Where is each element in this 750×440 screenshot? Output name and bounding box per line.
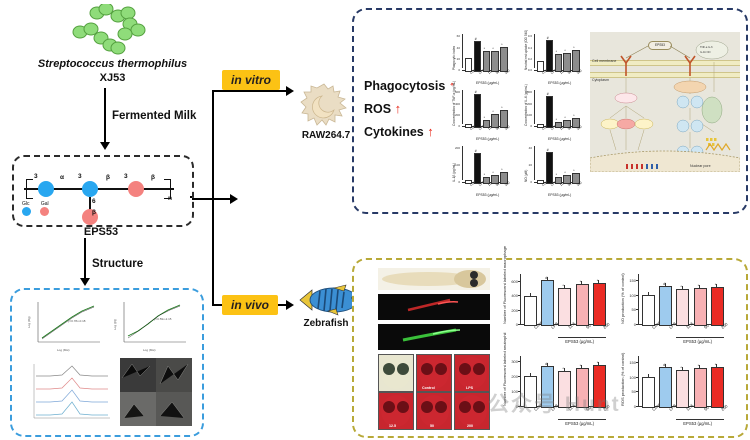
y-tick: 100 <box>624 293 636 298</box>
significance-marker: * <box>484 173 485 177</box>
y-tick: 0 <box>624 322 636 327</box>
significance-marker: * <box>501 43 502 47</box>
nuclear-pore-label: Nuclear pore <box>690 164 711 168</box>
bar-LPS <box>546 40 553 72</box>
arrow-invitro-head <box>286 86 294 96</box>
in-vitro-chart-5: IL-1β (pg/mL)0100200Control#LPS*12.5*50*… <box>448 142 510 194</box>
y-tick: 150 <box>624 278 636 283</box>
bar-LPS <box>474 41 481 72</box>
arrow-invivo-vertical <box>212 198 214 306</box>
bar-200 <box>593 283 606 326</box>
significance-marker: * <box>556 50 557 54</box>
watermark: 公众号 Hunt <box>488 388 688 416</box>
plot1-annotation: y=0.78x-0.18 <box>68 319 86 323</box>
mark-houwink-plot-2: y=0.59x-2.15 Log (Mw) Log ([n]) <box>110 298 190 353</box>
bar-200 <box>711 367 724 408</box>
y-tick: 0 <box>520 180 532 184</box>
head-image-control: Control <box>416 354 452 392</box>
eps53-label: EPS53 <box>12 226 190 238</box>
bar-LPS <box>659 286 672 326</box>
in-vitro-chart-2: Neutral red uptake (OD 540)0.00.20.40.6C… <box>520 30 582 82</box>
significance-marker: * <box>492 110 493 114</box>
svg-text:Log (Mw): Log (Mw) <box>57 348 70 352</box>
head-label-200: 200 <box>467 424 473 428</box>
effect-ros-label: ROS <box>364 102 391 116</box>
mark-houwink-plot-1: y=0.78x-0.18 Log (Mw) Log (Rg) <box>24 298 104 353</box>
x-tick-label: 50 <box>585 323 592 330</box>
structure-characterization-panel: y=0.78x-0.18 Log (Mw) Log (Rg) y=0.59x-2… <box>10 288 204 437</box>
significance-marker: * <box>484 116 485 120</box>
spectra-plot <box>20 358 116 428</box>
significance-marker: * <box>573 114 574 118</box>
significance-marker: * <box>564 49 565 53</box>
head-label-lps: LPS <box>466 386 473 390</box>
y-tick: 0.2 <box>520 57 532 61</box>
branch-link: β <box>92 209 96 216</box>
arrow-invitro-line <box>212 90 288 92</box>
y-tick: 150 <box>624 360 636 365</box>
y-tick: 200 <box>506 308 518 313</box>
head-image-lps: LPS <box>454 354 490 392</box>
significance-marker: # <box>547 36 549 40</box>
y-tick: 0 <box>506 322 518 327</box>
significance-marker: * <box>573 169 574 173</box>
arrow-split-head <box>230 194 238 204</box>
svg-text:IL-1b NO: IL-1b NO <box>700 50 711 54</box>
y-tick: 0 <box>448 124 460 128</box>
y-tick: 100 <box>448 163 460 167</box>
bar-LPS <box>474 153 481 184</box>
effect-cytokines-arrow: ↑ <box>427 124 434 139</box>
arrow-fermentation-line <box>104 88 106 144</box>
sugar-gal-1 <box>128 181 144 197</box>
x-tick-label: 200 <box>504 69 511 75</box>
significance-marker: * <box>564 171 565 175</box>
x-axis-group-label: EPS53 (μg/mL) <box>565 339 594 344</box>
structure-legend: Glc Gal <box>22 201 49 207</box>
y-tick: 0.6 <box>520 34 532 38</box>
in-vitro-chart-1: Phagocytic index0204060Control#LPS*12.5*… <box>448 30 510 82</box>
svg-text:TNF-a IL-6: TNF-a IL-6 <box>700 45 713 49</box>
head-image-control-bf <box>378 354 414 392</box>
significance-marker: # <box>475 90 477 94</box>
bar-50 <box>694 368 707 408</box>
y-tick: 400 <box>448 102 460 106</box>
significance-marker: * <box>501 168 502 172</box>
in-vivo-badge: in vivo <box>222 295 278 315</box>
plot2-annotation: y=0.59x-2.15 <box>154 317 172 321</box>
svg-text:Log ([n]): Log ([n]) <box>113 319 117 330</box>
zebrafish-icon <box>294 283 360 317</box>
x-tick-label: 200 <box>504 181 511 187</box>
branch-position: 6 <box>92 198 96 205</box>
macrophage-count-chart: Number of Fluorescent labeled macrophage… <box>496 266 614 348</box>
significance-marker: * <box>556 173 557 177</box>
strain-name: XJ53 <box>10 72 215 84</box>
structure-label: Structure <box>92 258 143 270</box>
y-tick: 200 <box>448 113 460 117</box>
signaling-pathway-diagram: Cell membrane Cytoplasm EPS53 <box>590 32 740 172</box>
arrow-invivo-head <box>286 300 294 310</box>
y-tick: 100 <box>520 113 532 117</box>
y-tick: 0 <box>520 124 532 128</box>
x-axis-group-label: EPS53 (μg/mL) <box>683 421 712 426</box>
y-tick: 50 <box>624 307 636 312</box>
significance-marker: * <box>556 118 557 122</box>
significance-marker: * <box>492 171 493 175</box>
bar-Control <box>642 295 655 326</box>
arrow-fermentation-head <box>100 142 110 150</box>
x-tick-label: 200 <box>504 125 511 131</box>
bar-12.5 <box>558 288 571 326</box>
bar-LPS <box>546 152 553 184</box>
macrophage-icon <box>300 82 348 128</box>
y-tick: 200 <box>448 146 460 150</box>
significance-marker: * <box>484 47 485 51</box>
x-axis-group-label: EPS53 (μg/mL) <box>476 137 499 141</box>
arrow-structure-line <box>84 238 86 280</box>
in-vitro-bar-charts: Phagocytic index0204060Control#LPS*12.5*… <box>448 30 584 198</box>
head-image-dose-50: 50 <box>416 392 452 430</box>
y-tick: 40 <box>448 46 460 50</box>
legend-glc-dot <box>22 207 31 216</box>
significance-marker: # <box>547 92 549 96</box>
bar-LPS <box>541 280 554 326</box>
bar-50 <box>576 284 589 326</box>
in-vitro-badge: in vitro <box>222 70 280 90</box>
bacteria-image <box>60 4 165 56</box>
x-axis-group-label: EPS53 (μg/mL) <box>476 81 499 85</box>
x-tick-label: 200 <box>576 125 583 131</box>
y-tick: 40 <box>520 146 532 150</box>
head-image-dose-12-5: 12.5 <box>378 392 414 430</box>
fermented-milk-label: Fermented Milk <box>112 110 196 122</box>
in-vitro-chart-6: NO (μM)02040Control#LPS*12.5*50*200EPS53… <box>520 142 582 194</box>
sem-micrographs <box>120 358 192 426</box>
effect-phagocytosis-label: Phagocytosis <box>364 79 445 93</box>
x-axis-group-label: EPS53 (μg/mL) <box>683 339 712 344</box>
species-name: Streptococcus thermophilus <box>10 58 215 70</box>
significance-marker: * <box>564 116 565 120</box>
effect-ros-arrow: ↑ <box>395 101 402 116</box>
y-tick: 200 <box>506 374 518 379</box>
head-label-control: Control <box>422 386 435 390</box>
bar-LPS <box>546 96 553 128</box>
bar-50 <box>694 288 707 326</box>
link-pos-1: 3 <box>34 173 38 180</box>
effect-phagocytosis: Phagocytosis ↑ <box>364 78 455 93</box>
y-tick: 100 <box>624 375 636 380</box>
y-tick: 400 <box>506 293 518 298</box>
repeat-n-label: n <box>168 195 172 202</box>
x-axis-group-label: EPS53 (μg/mL) <box>476 193 499 197</box>
x-tick-label: 200 <box>576 181 583 187</box>
significance-marker: * <box>492 47 493 51</box>
sugar-glc-2 <box>82 181 98 197</box>
no-production-chart: NO production (% of control)050100150Con… <box>614 266 732 348</box>
bar-200 <box>711 287 724 326</box>
x-tick-label: 50 <box>703 323 710 330</box>
link-type-2: β <box>106 174 110 181</box>
y-tick: 20 <box>520 163 532 167</box>
link-pos-3: 3 <box>124 173 128 180</box>
significance-marker: * <box>501 106 502 110</box>
y-tick: 0 <box>448 68 460 72</box>
eps53-structure-diagram: n 3 α 3 β 3 β 6 β Glc Gal <box>12 155 194 227</box>
bar-LPS <box>474 94 481 128</box>
link-type-1: α <box>60 174 64 181</box>
link-type-3: β <box>151 174 155 181</box>
y-tick: 20 <box>448 57 460 61</box>
significance-marker: # <box>475 149 477 153</box>
y-tick: 200 <box>520 102 532 106</box>
y-tick: 600 <box>448 90 460 94</box>
x-tick-label: 200 <box>576 69 583 75</box>
effect-cytokines: Cytokines ↑ <box>364 124 434 139</box>
svg-text:Log (Mw): Log (Mw) <box>143 348 156 352</box>
y-tick: 0 <box>448 180 460 184</box>
zebrafish-image-group: Control LPS 12.5 50 200 <box>378 268 490 428</box>
x-axis-group-label: EPS53 (μg/mL) <box>548 193 571 197</box>
bar-12.5 <box>676 289 689 326</box>
sugar-glc-1 <box>38 181 54 197</box>
head-label-12-5: 12.5 <box>389 424 396 428</box>
legend-gal-dot <box>40 207 49 216</box>
head-image-dose-200: 200 <box>454 392 490 430</box>
y-tick: 300 <box>506 359 518 364</box>
svg-text:Log (Rg): Log (Rg) <box>27 316 31 328</box>
x-axis-group-label: EPS53 (μg/mL) <box>565 421 594 426</box>
head-label-50: 50 <box>430 424 434 428</box>
y-tick: 300 <box>520 90 532 94</box>
effect-cytokines-label: Cytokines <box>364 125 424 139</box>
effect-ros: ROS ↑ <box>364 101 401 116</box>
arrow-structure-head <box>80 278 90 286</box>
x-axis-group-label: EPS53 (μg/mL) <box>548 81 571 85</box>
y-tick: 0.4 <box>520 46 532 50</box>
significance-marker: # <box>475 37 477 41</box>
y-tick: 0.0 <box>520 68 532 72</box>
significance-marker: * <box>573 46 574 50</box>
y-tick: 60 <box>448 34 460 38</box>
y-tick: 600 <box>506 279 518 284</box>
arrow-branch-vertical <box>212 90 214 200</box>
significance-marker: # <box>547 148 549 152</box>
x-tick-label: 50 <box>703 405 710 412</box>
bar-Control <box>524 296 537 326</box>
link-pos-2: 3 <box>78 173 82 180</box>
in-vitro-chart-4: Concentration of IL-6 (pg/mL)0100200300C… <box>520 86 582 138</box>
x-axis-group-label: EPS53 (μg/mL) <box>548 137 571 141</box>
in-vitro-chart-3: Concentration of TNF-α (pg/mL)0200400600… <box>448 86 510 138</box>
